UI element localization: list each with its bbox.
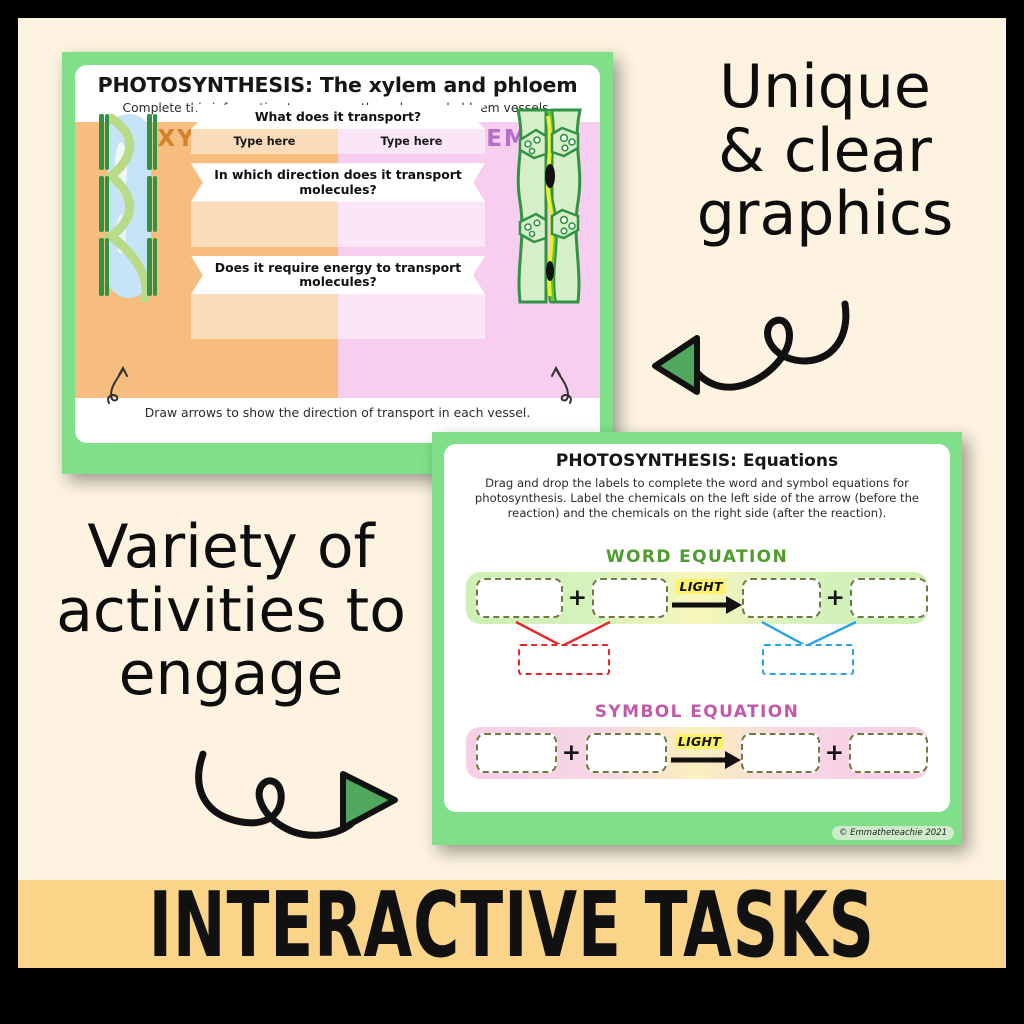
slide2-title: PHOTOSYNTHESIS: Equations (444, 451, 950, 471)
curly-pointer-left-icon (105, 365, 131, 405)
answer-row[interactable] (191, 294, 485, 339)
word-slot-reactant-1[interactable] (476, 578, 563, 618)
drop-target-reactants[interactable] (518, 644, 610, 675)
interactive-tasks-banner: INTERACTIVE TASKS (18, 880, 1006, 968)
slide-xylem-phloem[interactable]: PHOTOSYNTHESIS: The xylem and phloem Com… (62, 52, 613, 474)
answer-cell-phloem[interactable]: Type here (338, 129, 485, 154)
plus-sign: + (821, 587, 850, 610)
symbol-slot-reactant-2[interactable] (586, 733, 667, 773)
answer-cell-phloem[interactable] (338, 294, 485, 339)
symbol-slot-product-1[interactable] (741, 733, 820, 773)
plus-sign: + (557, 742, 586, 765)
promo-text-activities: Variety of activities to engage (36, 516, 426, 707)
plus-sign: + (820, 742, 849, 765)
xylem-vessel-illustration (91, 106, 167, 306)
light-label: LIGHT (675, 734, 724, 749)
symbol-slot-product-2[interactable] (849, 733, 928, 773)
slide1-title: PHOTOSYNTHESIS: The xylem and phloem (75, 73, 600, 97)
light-arrow: LIGHT (667, 733, 741, 773)
symbol-slot-reactant-1[interactable] (476, 733, 557, 773)
symbol-equation-strip: + LIGHT + (466, 727, 928, 779)
answer-row[interactable] (191, 202, 485, 247)
promo-line: activities to (36, 580, 426, 644)
word-slot-product-1[interactable] (742, 578, 820, 618)
curved-arrow-right-icon (185, 740, 415, 860)
phloem-vessel-illustration (512, 106, 586, 306)
promo-line: & clear (660, 120, 990, 184)
light-arrow: LIGHT (668, 578, 742, 618)
slide1-footer-instruction: Draw arrows to show the direction of tra… (75, 405, 600, 420)
answer-cell-xylem[interactable] (191, 294, 338, 339)
answer-cell-xylem[interactable] (191, 202, 338, 247)
banner-label: INTERACTIVE TASKS (149, 871, 875, 976)
word-equation-heading: WORD EQUATION (444, 547, 950, 567)
spacer (191, 154, 485, 163)
answer-cell-xylem[interactable]: Type here (191, 129, 338, 154)
promo-line: Variety of (36, 516, 426, 580)
slide2-sheet: PHOTOSYNTHESIS: Equations Drag and drop … (444, 444, 950, 812)
answer-row[interactable]: Type here Type here (191, 129, 485, 154)
question-banner: What does it transport? (191, 105, 485, 129)
promo-line: Unique (660, 56, 990, 120)
slide-equations[interactable]: PHOTOSYNTHESIS: Equations Drag and drop … (432, 432, 962, 845)
answer-cell-phloem[interactable] (338, 202, 485, 247)
promo-line: engage (36, 643, 426, 707)
curly-pointer-right-icon (548, 365, 574, 405)
type-here-placeholder: Type here (234, 135, 296, 148)
slide1-sheet: PHOTOSYNTHESIS: The xylem and phloem Com… (75, 65, 600, 443)
type-here-placeholder: Type here (381, 135, 443, 148)
promo-line: graphics (660, 183, 990, 247)
word-equation-strip: + LIGHT + (466, 572, 928, 624)
word-slot-reactant-2[interactable] (592, 578, 668, 618)
spacer (191, 247, 485, 256)
symbol-equation-heading: SYMBOL EQUATION (444, 702, 950, 722)
poster-canvas: Unique & clear graphics Variety of activ… (0, 0, 1024, 1024)
curved-arrow-left-icon (645, 300, 855, 440)
question-banner: In which direction does it transport mol… (191, 163, 485, 202)
question-answer-stack: What does it transport? Type here Type h… (191, 105, 485, 339)
light-label: LIGHT (676, 579, 725, 594)
question-banner: Does it require energy to transport mole… (191, 256, 485, 295)
promo-text-graphics: Unique & clear graphics (660, 56, 990, 247)
drop-target-products[interactable] (762, 644, 854, 675)
plus-sign: + (563, 587, 592, 610)
copyright-badge: © Emmatheteachie 2021 (832, 826, 954, 840)
slide2-subtitle: Drag and drop the labels to complete the… (458, 476, 936, 520)
word-slot-product-2[interactable] (850, 578, 928, 618)
